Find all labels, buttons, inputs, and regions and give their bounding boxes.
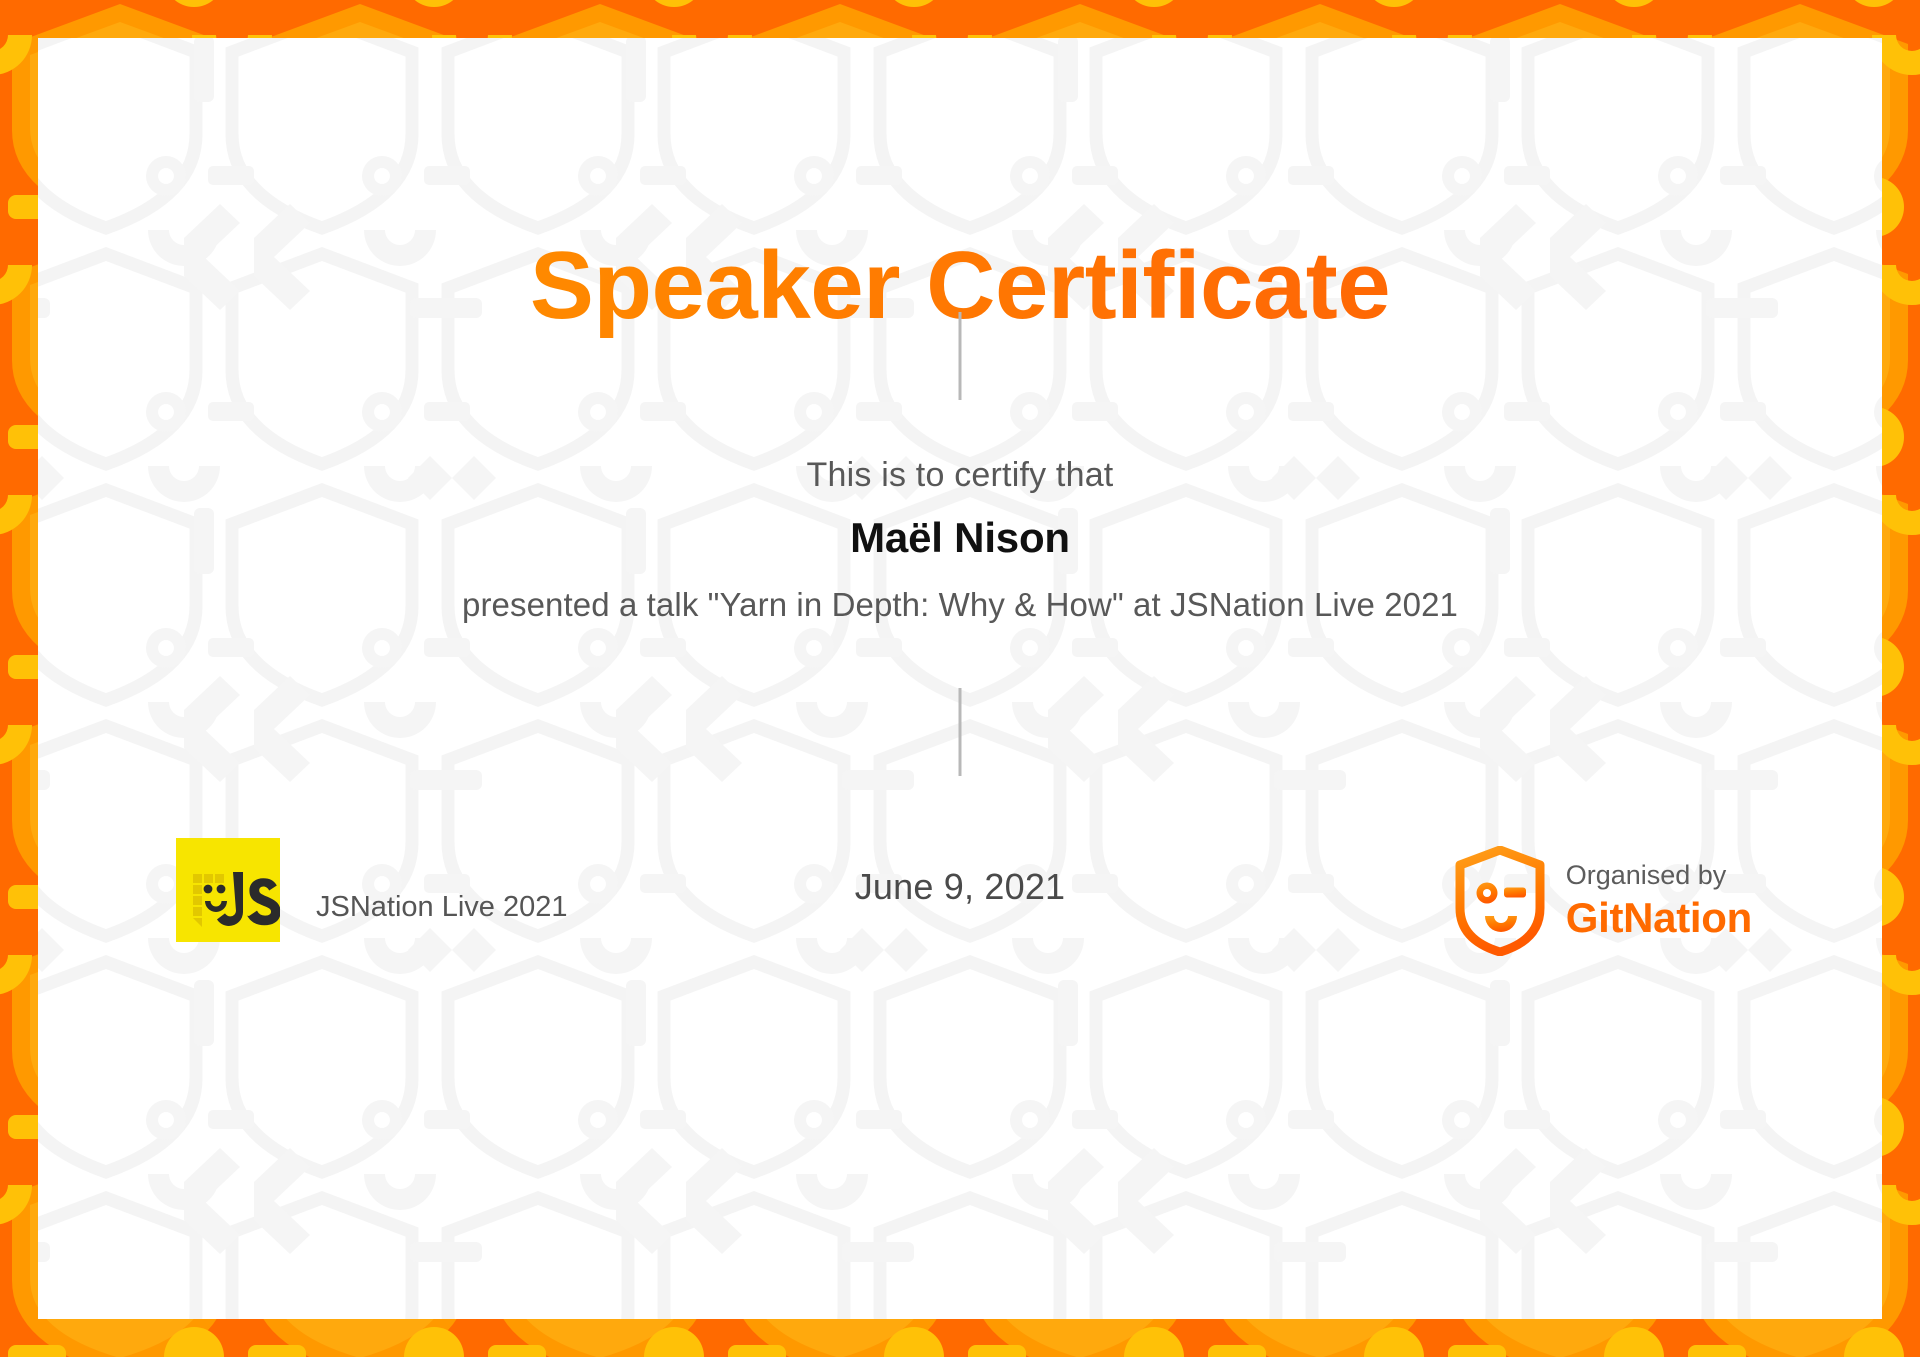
divider-tick-top	[959, 312, 962, 400]
gitnation-shield-logo-icon	[1454, 846, 1546, 956]
certificate-footer: JSNation Live 2021 June 9, 2021	[38, 838, 1882, 978]
gitnation-wordmark: GitNation	[1566, 893, 1752, 943]
speaker-certificate: Speaker Certificate This is to certify t…	[0, 0, 1920, 1357]
certify-statement: This is to certify that	[38, 456, 1882, 495]
organised-by-label: Organised by	[1566, 859, 1752, 893]
organiser-text: Organised by GitNation	[1566, 859, 1752, 942]
divider-tick-bottom	[959, 688, 962, 776]
certificate-card: Speaker Certificate This is to certify t…	[38, 38, 1882, 1319]
organiser-block: Organised by GitNation	[1454, 846, 1752, 956]
talk-statement: presented a talk "Yarn in Depth: Why & H…	[38, 586, 1882, 624]
recipient-name: Maël Nison	[38, 514, 1882, 562]
